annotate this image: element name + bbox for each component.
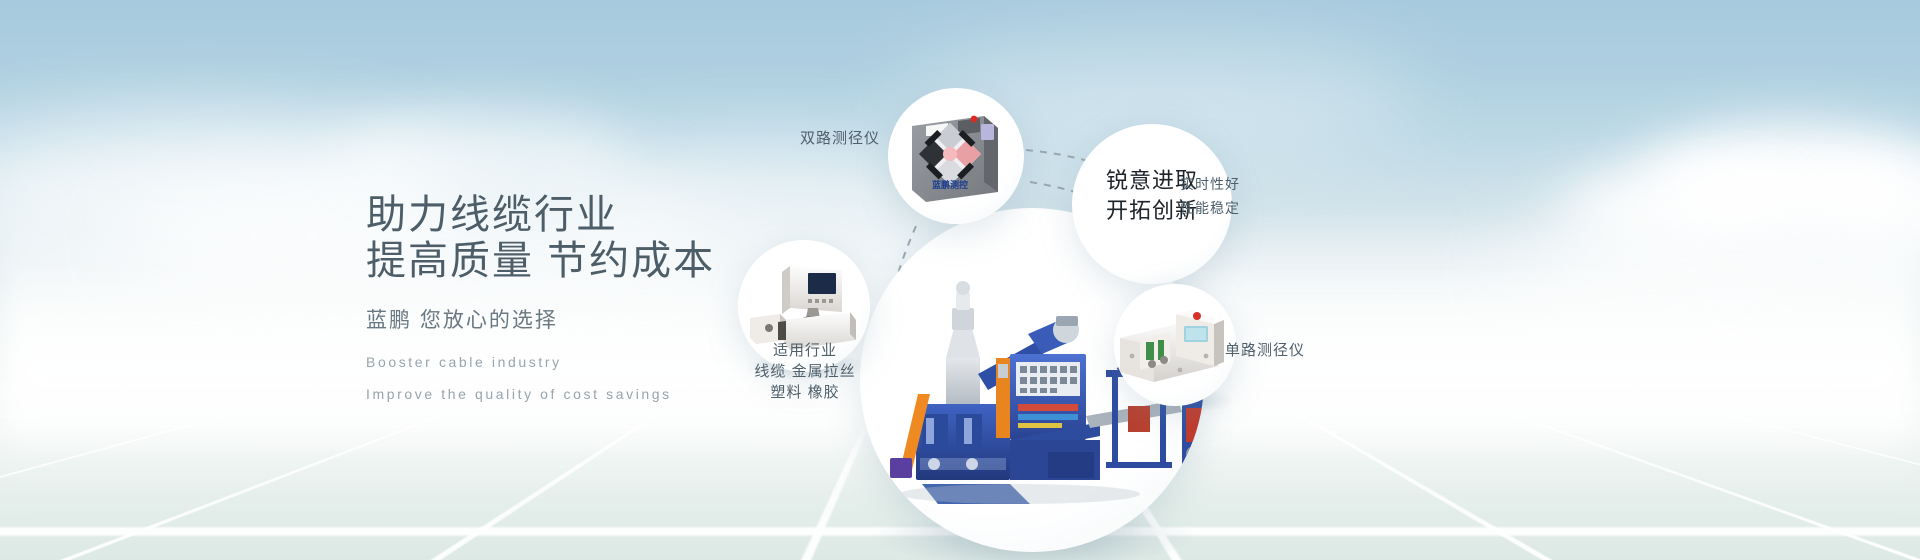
- dual-gauge-device-icon: 蓝鹏测控: [888, 88, 1024, 224]
- cloud-icon: [330, 110, 630, 200]
- product-cluster: 蓝鹏测控: [720, 0, 1920, 560]
- label-performance: 实时性好 性能稳定: [1180, 172, 1240, 220]
- industry-title: 适用行业: [725, 340, 885, 361]
- hero-english-line-1: Booster cable industry: [366, 354, 715, 370]
- page-title-line-1: 助力线缆行业: [366, 192, 715, 238]
- single-gauge-device-icon: [1114, 284, 1236, 406]
- performance-line-2: 性能稳定: [1180, 196, 1240, 220]
- bubble-dual-gauge[interactable]: 蓝鹏测控: [888, 88, 1024, 224]
- label-single-gauge: 单路测径仪: [1225, 340, 1305, 361]
- hero-english-line-2: Improve the quality of cost savings: [366, 386, 715, 402]
- hero-banner: 助力线缆行业 提高质量 节约成本 蓝鹏 您放心的选择 Booster cable…: [0, 0, 1920, 560]
- industry-line-2: 塑料 橡胶: [725, 382, 885, 403]
- performance-line-1: 实时性好: [1180, 172, 1240, 196]
- hero-copy: 助力线缆行业 提高质量 节约成本 蓝鹏 您放心的选择 Booster cable…: [366, 192, 715, 402]
- device-brand-text: 蓝鹏测控: [932, 179, 968, 191]
- label-dual-gauge: 双路测径仪: [800, 128, 880, 149]
- bubble-single-gauge[interactable]: [1114, 284, 1236, 406]
- industry-line-1: 线缆 金属拉丝: [725, 361, 885, 382]
- label-industries: 适用行业 线缆 金属拉丝 塑料 橡胶: [725, 340, 885, 403]
- hero-subline: 蓝鹏 您放心的选择: [366, 304, 715, 334]
- page-title-line-2: 提高质量 节约成本: [366, 238, 715, 284]
